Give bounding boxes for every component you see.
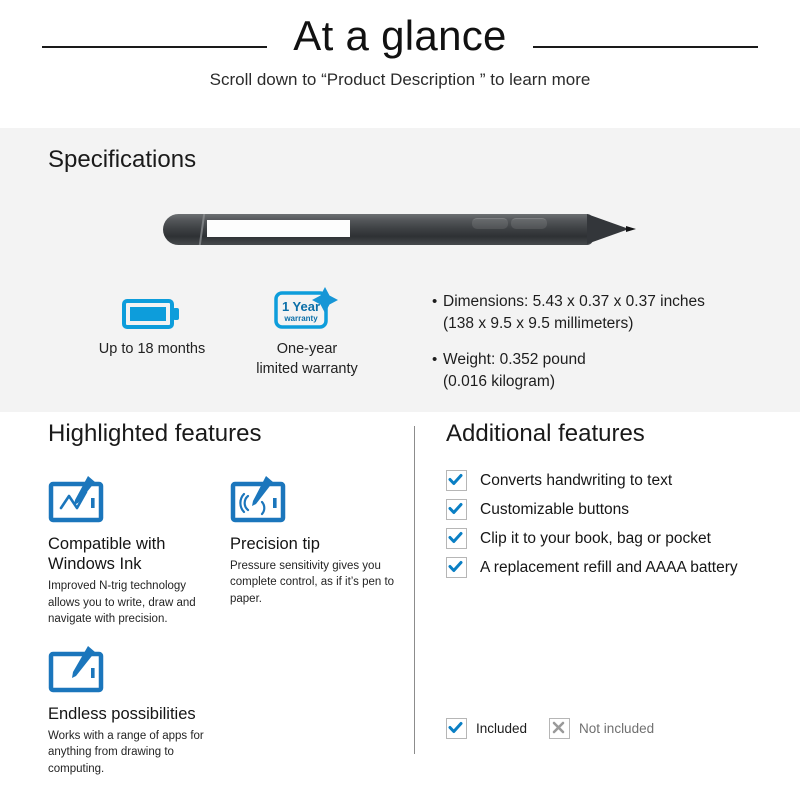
- specifications-heading: Specifications: [48, 146, 196, 174]
- header-rule-left: [42, 46, 267, 48]
- warranty-badge-icon: 1 Year warranty: [222, 283, 392, 331]
- specifications-items: Up to 18 months 1 Year warranty One-year…: [0, 283, 800, 403]
- additional-features-heading: Additional features: [446, 420, 776, 448]
- pen-button-2: [511, 218, 547, 229]
- header-subtitle: Scroll down to “Product Description ” to…: [0, 70, 800, 90]
- checklist-label: A replacement refill and AAAA battery: [480, 559, 738, 577]
- spec-bullet-dimensions: • Dimensions: 5.43 x 0.37 x 0.37 inches …: [432, 291, 762, 335]
- header-banner: At a glance Scroll down to “Product Desc…: [0, 0, 800, 128]
- check-icon: [446, 718, 467, 739]
- page-title: At a glance: [293, 14, 506, 58]
- pen-label-band: [207, 220, 350, 237]
- checklist-label: Converts handwriting to text: [480, 472, 672, 490]
- column-divider: [414, 426, 415, 754]
- additional-features-column: Additional features Converts handwriting…: [446, 420, 776, 586]
- dimensions-line2: (138 x 9.5 x 9.5 millimeters): [443, 315, 633, 332]
- check-icon: [446, 499, 467, 520]
- tablet-pen-pressure-icon: [230, 470, 398, 526]
- checklist-label: Clip it to your book, bag or pocket: [480, 530, 711, 548]
- pen-cone: [587, 214, 629, 244]
- spec-bullet-weight: • Weight: 0.352 pound (0.016 kilogram): [432, 349, 762, 393]
- stylus-pen-image: [163, 200, 643, 260]
- tablet-pen-drawing-icon: [48, 470, 216, 526]
- spec-item-battery: Up to 18 months: [67, 283, 237, 360]
- specifications-section: Specifications Up to 18 months: [0, 128, 800, 412]
- specifications-bullet-list: • Dimensions: 5.43 x 0.37 x 0.37 inches …: [432, 291, 762, 407]
- feature-description: Improved N-trig technology allows you to…: [48, 578, 216, 627]
- check-icon: [446, 528, 467, 549]
- spec-item-warranty: 1 Year warranty One-year limited warrant…: [222, 283, 392, 379]
- feature-title: Endless possibilities: [48, 704, 216, 724]
- battery-icon: [67, 283, 237, 331]
- weight-line2: (0.016 kilogram): [443, 373, 555, 390]
- warranty-caption-line1: One-year: [277, 341, 337, 357]
- checklist-item: A replacement refill and AAAA battery: [446, 557, 776, 578]
- feature-title-line1: Compatible with: [48, 535, 165, 553]
- legend-included: Included: [446, 718, 527, 739]
- tablet-pen-icon: [48, 640, 216, 696]
- feature-title: Compatible with Windows Ink: [48, 534, 216, 574]
- feature-description: Pressure sensitivity gives you complete …: [230, 558, 398, 607]
- header-title-row: At a glance: [0, 0, 800, 58]
- svg-text:1 Year: 1 Year: [282, 299, 320, 314]
- legend-included-label: Included: [476, 721, 527, 736]
- pen-nib: [626, 226, 636, 232]
- feature-windows-ink: Compatible with Windows Ink Improved N-t…: [48, 470, 216, 627]
- battery-caption: Up to 18 months: [67, 340, 237, 360]
- checklist-item: Customizable buttons: [446, 499, 776, 520]
- feature-title: Precision tip: [230, 534, 398, 554]
- bottom-section: Highlighted features Compatible with Win…: [0, 412, 800, 800]
- legend-not-included-label: Not included: [579, 721, 654, 736]
- feature-title-line2: Windows Ink: [48, 555, 142, 573]
- feature-endless-possibilities: Endless possibilities Works with a range…: [48, 640, 216, 777]
- svg-text:warranty: warranty: [283, 314, 318, 323]
- x-icon: [549, 718, 570, 739]
- warranty-caption-line2: limited warranty: [256, 361, 358, 377]
- highlighted-features-heading: Highlighted features: [48, 420, 398, 448]
- warranty-caption: One-year limited warranty: [222, 340, 392, 379]
- feature-precision-tip: Precision tip Pressure sensitivity gives…: [230, 470, 398, 607]
- highlighted-features-column: Highlighted features Compatible with Win…: [48, 420, 398, 470]
- checklist-item: Converts handwriting to text: [446, 470, 776, 491]
- check-icon: [446, 557, 467, 578]
- feature-description: Works with a range of apps for anything …: [48, 728, 216, 777]
- pen-button-1: [472, 218, 508, 229]
- checklist-item: Clip it to your book, bag or pocket: [446, 528, 776, 549]
- header-rule-right: [533, 46, 758, 48]
- checklist-label: Customizable buttons: [480, 501, 629, 519]
- dimensions-line1: Dimensions: 5.43 x 0.37 x 0.37 inches: [443, 293, 705, 310]
- check-icon: [446, 470, 467, 491]
- weight-line1: Weight: 0.352 pound: [443, 351, 586, 368]
- legend-not-included: Not included: [549, 718, 654, 739]
- bullet-marker: •: [432, 291, 443, 335]
- legend: Included Not included: [446, 718, 676, 739]
- bullet-marker: •: [432, 349, 443, 393]
